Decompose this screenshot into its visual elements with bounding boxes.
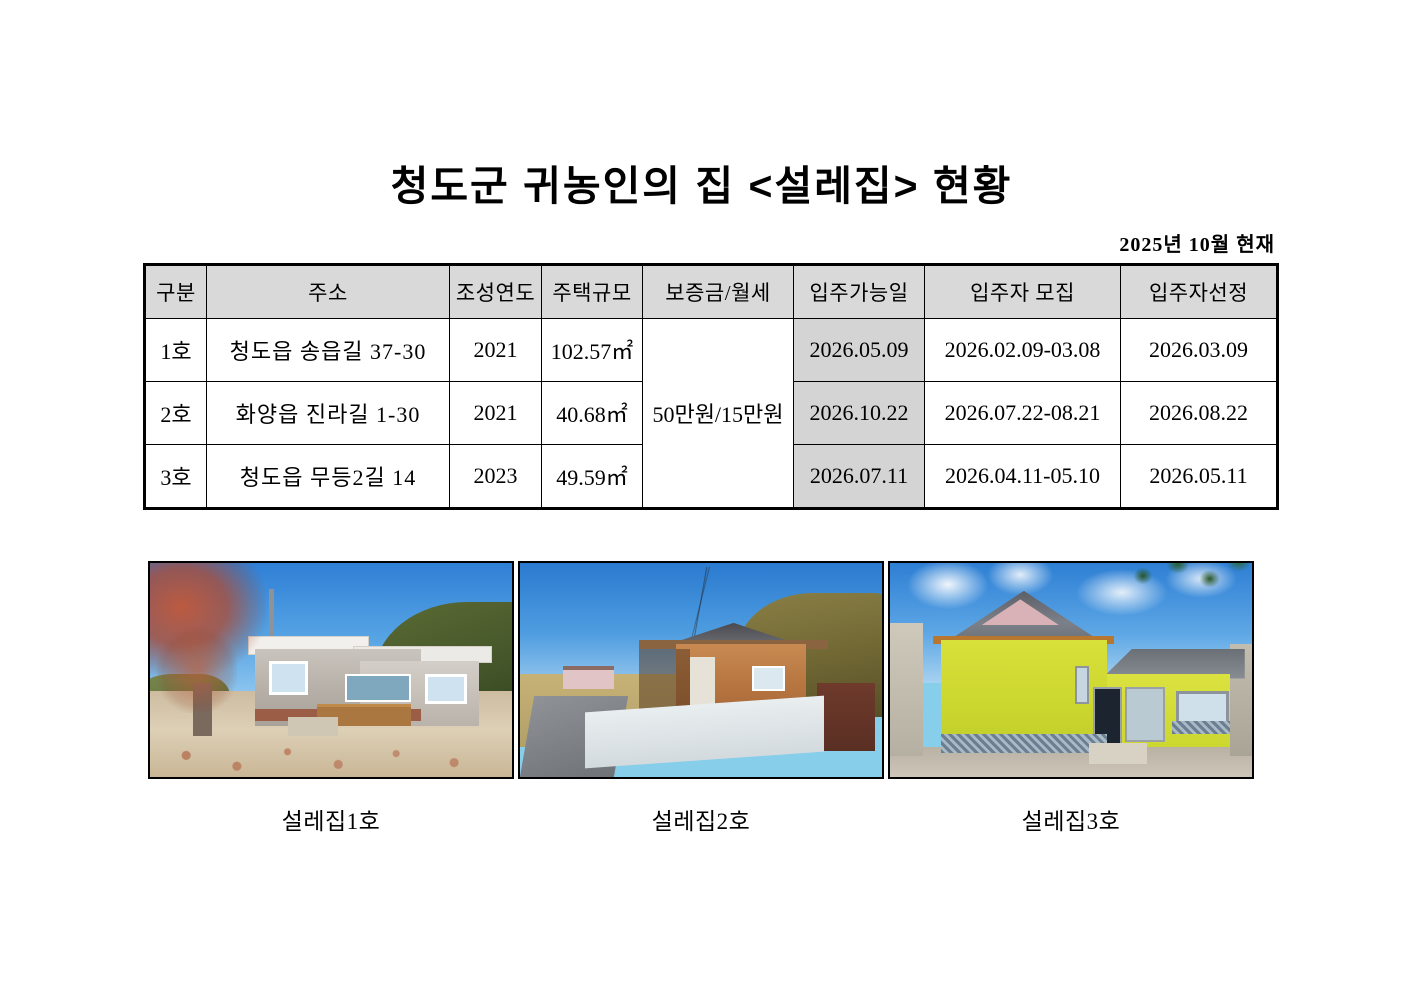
autumn-tree-lower bbox=[157, 627, 237, 713]
cell-year: 2021 bbox=[450, 319, 542, 382]
entry-door bbox=[690, 657, 715, 708]
cell-year: 2023 bbox=[450, 445, 542, 509]
photo-1-scene bbox=[150, 563, 512, 777]
cell-gubun: 3호 bbox=[145, 445, 207, 509]
fallen-leaves bbox=[150, 741, 512, 777]
status-table-container: 구분 주소 조성연도 주택규모 보증금/월세 입주가능일 입주자 모집 입주자선… bbox=[143, 263, 1276, 510]
column-header-selection: 입주자선정 bbox=[1121, 265, 1278, 319]
document-page: 청도군 귀농인의 집 <설레집> 현황 2025년 10월 현재 구분 주소 조… bbox=[0, 0, 1403, 992]
sliding-door bbox=[1125, 687, 1165, 742]
porch-area bbox=[639, 649, 690, 713]
window-right bbox=[425, 674, 467, 704]
cell-size: 40.68㎡ bbox=[542, 382, 643, 445]
as-of-date-note: 2025년 10월 현재 bbox=[1119, 228, 1275, 257]
photo-captions: 설레집1호 설레집2호 설레집3호 bbox=[148, 802, 1258, 836]
cell-address: 청도읍 무등2길 14 bbox=[207, 445, 450, 509]
column-header-deposit-rent: 보증금/월세 bbox=[643, 265, 794, 319]
photo-3-scene bbox=[890, 563, 1252, 777]
cell-selection-date: 2026.03.09 bbox=[1121, 319, 1278, 382]
cell-size: 49.59㎡ bbox=[542, 445, 643, 509]
cell-address: 화양읍 진라길 1-30 bbox=[207, 382, 450, 445]
tree-branch-leaves bbox=[1114, 563, 1252, 627]
cell-move-in-date: 2026.05.09 bbox=[794, 319, 925, 382]
photo-seollejip-2 bbox=[518, 561, 884, 779]
cell-move-in-date: 2026.07.11 bbox=[794, 445, 925, 509]
cell-gubun: 1호 bbox=[145, 319, 207, 382]
window-center bbox=[345, 674, 411, 702]
cell-gubun: 2호 bbox=[145, 382, 207, 445]
distant-house bbox=[563, 666, 614, 689]
column-header-size: 주택규모 bbox=[542, 265, 643, 319]
column-header-gubun: 구분 bbox=[145, 265, 207, 319]
tiled-skirting bbox=[941, 734, 1108, 753]
window-narrow bbox=[1075, 666, 1090, 704]
photo-seollejip-3 bbox=[888, 561, 1254, 779]
caption-seollejip-1: 설레집1호 bbox=[148, 802, 514, 836]
side-wall-left bbox=[890, 623, 923, 756]
entry-steps bbox=[288, 717, 339, 736]
brown-gate bbox=[817, 683, 875, 751]
cell-recruitment-period: 2026.04.11-05.10 bbox=[925, 445, 1121, 509]
table-row: 1호 청도읍 송읍길 37-30 2021 102.57㎡ 50만원/15만원 … bbox=[145, 319, 1278, 382]
cell-size: 102.57㎡ bbox=[542, 319, 643, 382]
cell-recruitment-period: 2026.02.09-03.08 bbox=[925, 319, 1121, 382]
column-header-move-in-date: 입주가능일 bbox=[794, 265, 925, 319]
cell-year: 2021 bbox=[450, 382, 542, 445]
column-header-address: 주소 bbox=[207, 265, 450, 319]
cell-deposit-rent: 50만원/15만원 bbox=[643, 319, 794, 509]
window-left bbox=[269, 661, 308, 695]
entry-steps bbox=[1089, 743, 1147, 764]
cell-selection-date: 2026.05.11 bbox=[1121, 445, 1278, 509]
caption-seollejip-3: 설레집3호 bbox=[888, 802, 1254, 836]
window bbox=[752, 666, 785, 691]
photo-gallery bbox=[148, 561, 1258, 779]
caption-seollejip-2: 설레집2호 bbox=[518, 802, 884, 836]
cell-recruitment-period: 2026.07.22-08.21 bbox=[925, 382, 1121, 445]
page-title: 청도군 귀농인의 집 <설레집> 현황 bbox=[0, 152, 1403, 212]
photo-seollejip-1 bbox=[148, 561, 514, 779]
photo-2-scene bbox=[520, 563, 882, 777]
tiled-skirting-wing bbox=[1172, 721, 1230, 734]
cell-address: 청도읍 송읍길 37-30 bbox=[207, 319, 450, 382]
cell-selection-date: 2026.08.22 bbox=[1121, 382, 1278, 445]
column-header-recruitment: 입주자 모집 bbox=[925, 265, 1121, 319]
status-table: 구분 주소 조성연도 주택규모 보증금/월세 입주가능일 입주자 모집 입주자선… bbox=[143, 263, 1279, 510]
column-header-year: 조성연도 bbox=[450, 265, 542, 319]
cell-move-in-date: 2026.10.22 bbox=[794, 382, 925, 445]
table-header-row: 구분 주소 조성연도 주택규모 보증금/월세 입주가능일 입주자 모집 입주자선… bbox=[145, 265, 1278, 319]
